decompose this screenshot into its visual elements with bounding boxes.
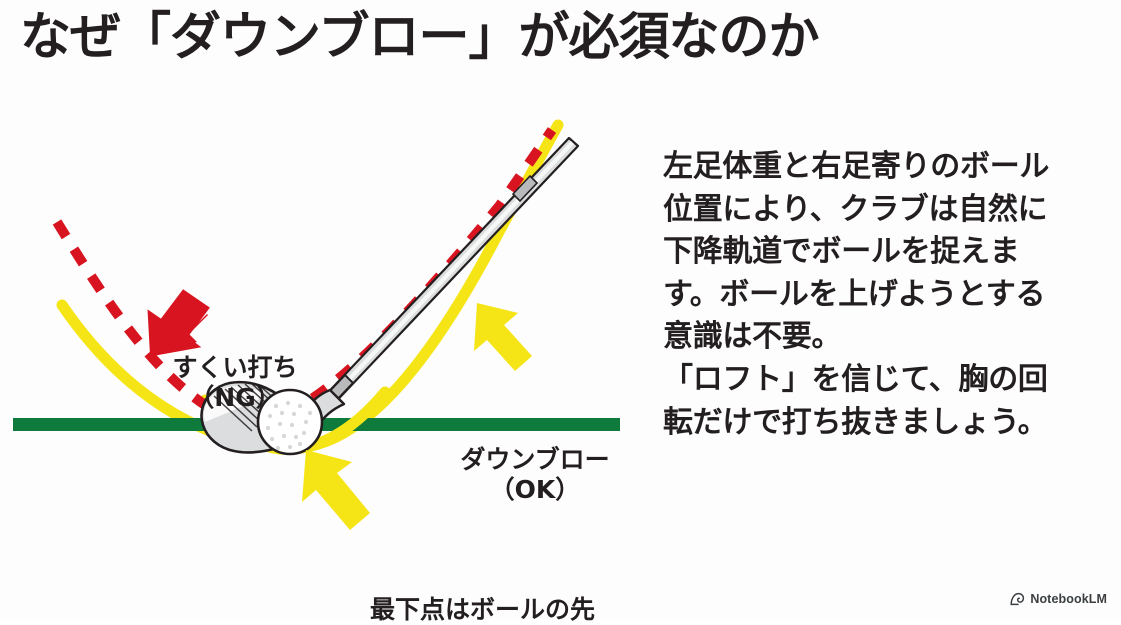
label-downblow-ok-line2: （OK） [455, 475, 615, 505]
notebooklm-spiral-icon [1010, 592, 1025, 606]
explanation-line-4: す。ボールを上げようとする [663, 274, 1093, 317]
label-downblow-ok: ダウンブロー （OK） [455, 445, 615, 504]
label-scooping-ng-line1: すくい打ち [140, 353, 330, 383]
red-arrow-icon [133, 286, 215, 357]
explanation-text: 左足体重と右足寄りのボール 位置により、クラブは自然に 下降軌道でボールを捉えま… [663, 146, 1093, 444]
swing-path-diagram: すくい打ち （NG） ダウンブロー （OK） 最下点はボールの先 [0, 100, 660, 550]
label-scooping-ng: すくい打ち （NG） [140, 353, 330, 412]
explanation-line-6: 「ロフト」を信じて、胸の回 [663, 359, 1093, 402]
yellow-arrow-lowest-icon [302, 450, 370, 530]
slide-canvas: なぜ「ダウンブロー」が必須なのか [0, 0, 1121, 619]
explanation-line-7: 転だけで打ち抜きましょう。 [663, 402, 1093, 445]
explanation-line-3: 下降軌道でボールを捉えま [663, 231, 1093, 274]
label-downblow-ok-line1: ダウンブロー [455, 445, 615, 475]
explanation-line-1: 左足体重と右足寄りのボール [663, 146, 1093, 189]
explanation-line-2: 位置により、クラブは自然に [663, 189, 1093, 232]
label-scooping-ng-line2: （NG） [140, 383, 330, 413]
page-title: なぜ「ダウンブロー」が必須なのか [20, 12, 818, 63]
label-lowest-point: 最下点はボールの先 [370, 595, 595, 625]
explanation-line-5: 意識は不要。 [663, 316, 1093, 359]
yellow-arrow-ok-icon [472, 303, 532, 371]
notebooklm-watermark: NotebookLM [1010, 592, 1107, 606]
notebooklm-label: NotebookLM [1030, 592, 1107, 606]
